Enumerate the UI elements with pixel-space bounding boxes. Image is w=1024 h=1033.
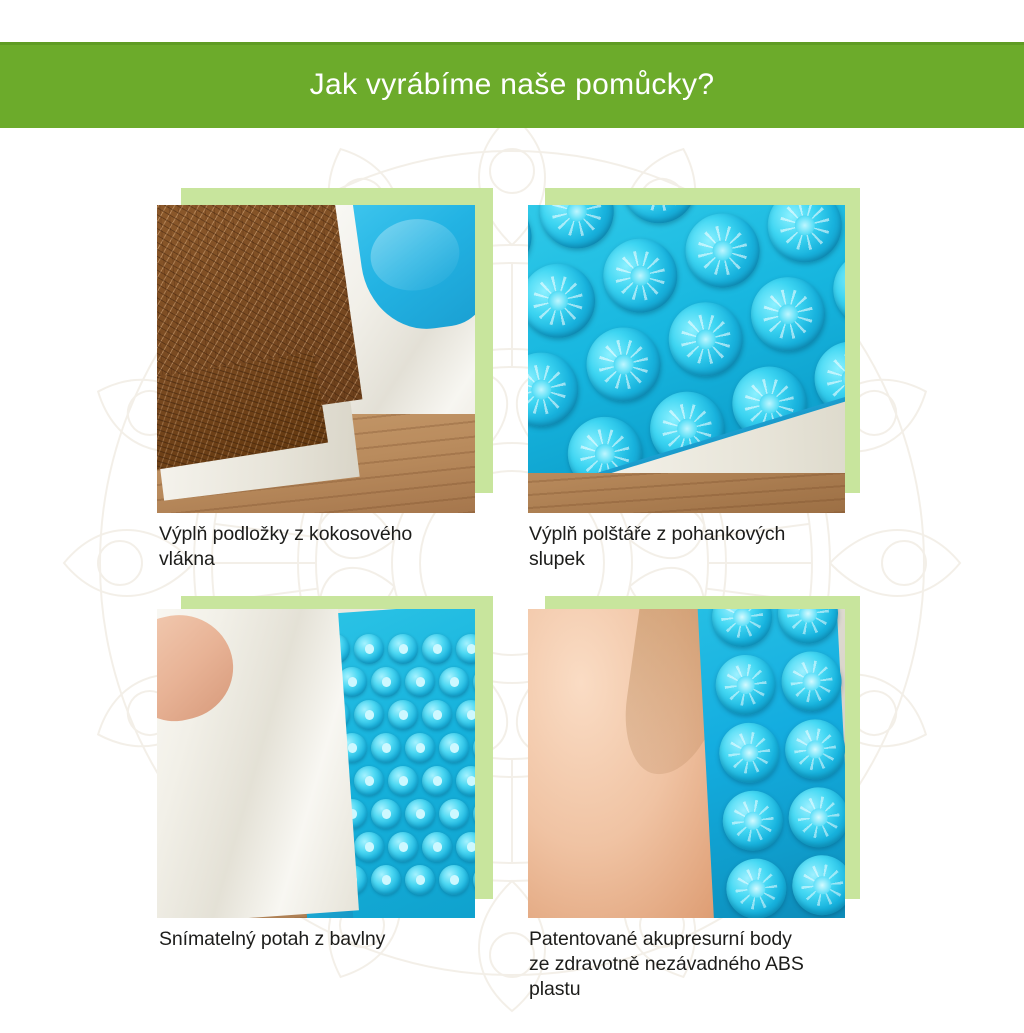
acupressure-point [405, 865, 435, 895]
acupressure-point [790, 854, 845, 917]
acupressure-point [354, 634, 384, 664]
cards-grid: Výplň podložky z kokosového vlákna Výplň… [0, 0, 1024, 1024]
acupressure-point [371, 799, 401, 829]
acupressure-point [724, 857, 787, 918]
acupressure-point [405, 667, 435, 697]
acupressure-point [388, 634, 418, 664]
acupressure-point [473, 865, 475, 895]
card-caption: Patentované akupresurní body ze zdravotn… [529, 927, 869, 1002]
acupressure-point [528, 344, 587, 436]
acupressure-point [473, 667, 475, 697]
photo-buckwheat-pillow[interactable] [528, 205, 845, 513]
acupressure-point [371, 865, 401, 895]
acupressure-point [354, 700, 384, 730]
acupressure-point [528, 255, 604, 347]
acupressure-point [659, 293, 751, 385]
acupressure-point [354, 832, 384, 862]
acupressure-point [422, 832, 452, 862]
acupressure-point [371, 667, 401, 697]
card-caption: Výplň polštáře z pohankových slupek [529, 522, 859, 572]
acupressure-point [405, 733, 435, 763]
acupressure-point [439, 865, 469, 895]
acupressure-point [577, 318, 669, 410]
acupressure-point [371, 733, 401, 763]
acupressure-point [676, 205, 768, 297]
acupressure-point [594, 230, 686, 322]
acupressure-point [388, 766, 418, 796]
photo-removable-cotton-cover[interactable] [157, 609, 475, 918]
acupressure-point [439, 799, 469, 829]
acupressure-point [530, 205, 622, 258]
acupressure-point [473, 799, 475, 829]
acupressure-point [456, 766, 475, 796]
acupressure-point [710, 609, 773, 648]
acupressure-point [456, 832, 475, 862]
acupressure-point [776, 609, 839, 645]
card-caption: Snímatelný potah z bavlny [159, 927, 489, 952]
acupressure-point [456, 634, 475, 664]
photo-acupressure-points-on-back[interactable] [528, 609, 845, 918]
acupressure-point [758, 205, 845, 272]
acupressure-point [721, 789, 784, 852]
acupressure-point [714, 653, 777, 716]
photo-coconut-fibre-mat[interactable] [157, 205, 475, 513]
acupressure-point [405, 799, 435, 829]
acupressure-point [439, 733, 469, 763]
acupressure-point [473, 733, 475, 763]
acupressure-point [717, 721, 780, 784]
acupressure-point [388, 700, 418, 730]
acupressure-point [824, 243, 845, 335]
acupressure-point [422, 634, 452, 664]
acupressure-point [456, 700, 475, 730]
acupressure-point [780, 650, 843, 713]
acupressure-point [388, 832, 418, 862]
card-caption: Výplň podložky z kokosového vlákna [159, 522, 489, 572]
acupressure-point [422, 700, 452, 730]
page-title: Jak vyrábíme naše pomůcky? [310, 70, 715, 100]
acupressure-point [787, 786, 845, 849]
acupressure-point [354, 766, 384, 796]
header-band: Jak vyrábíme naše pomůcky? [0, 42, 1024, 128]
acupressure-point [422, 766, 452, 796]
header-top-rule [0, 42, 1024, 45]
acupressure-point [783, 718, 845, 781]
acupressure-point [439, 667, 469, 697]
acupressure-point [741, 268, 833, 360]
